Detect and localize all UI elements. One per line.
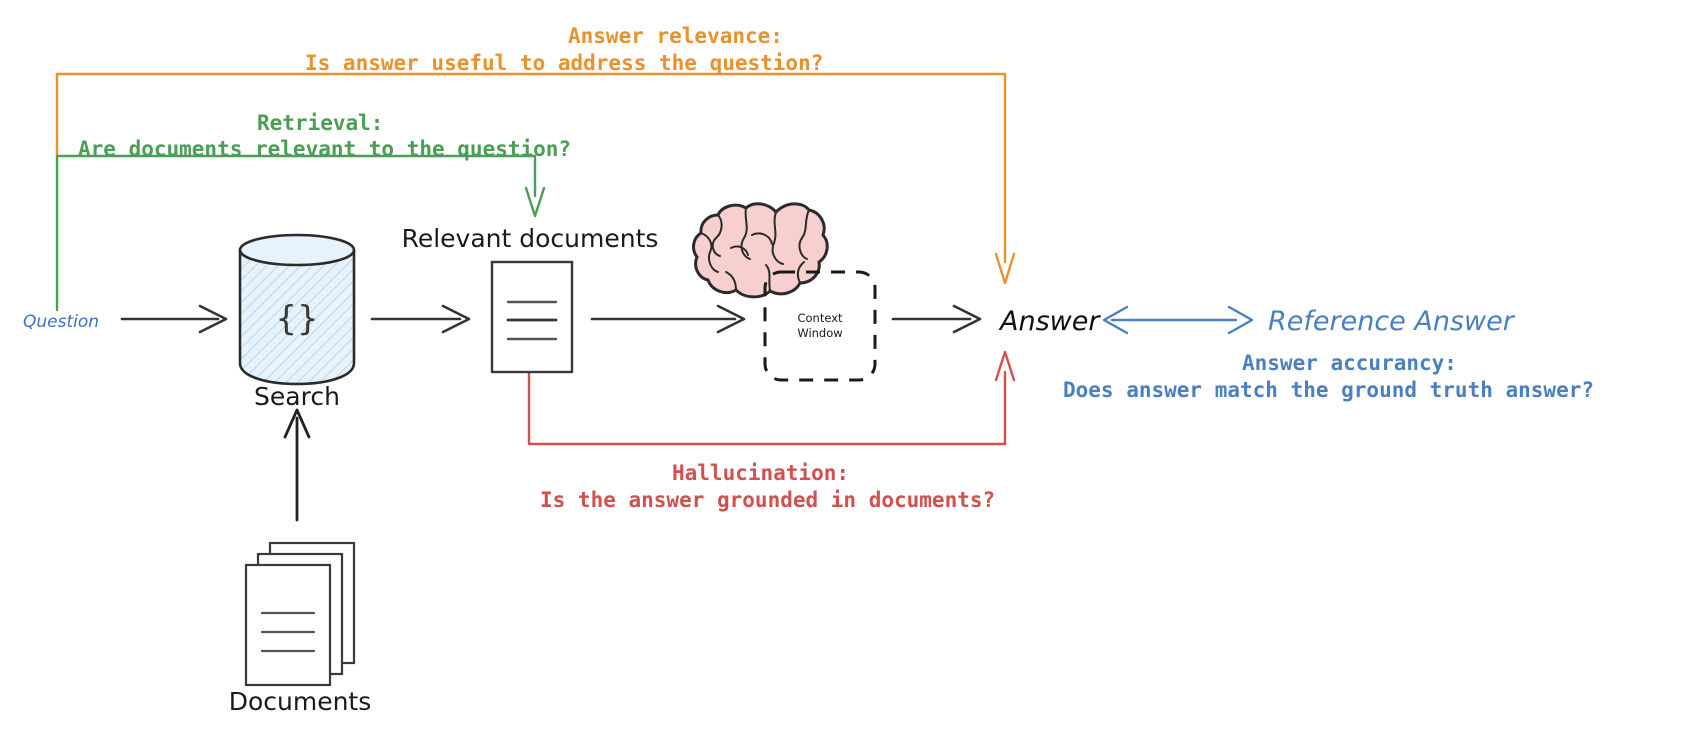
hallucination-title: Hallucination: — [672, 461, 849, 485]
documents-label: Documents — [229, 687, 372, 716]
answer-accuracy-question: Does answer match the ground truth answe… — [1063, 378, 1594, 402]
diagram-canvas: Answer relevance: Is answer useful to ad… — [0, 0, 1696, 731]
retrieval-question: Are documents relevant to the question? — [78, 137, 571, 161]
question-label: Question — [23, 312, 99, 332]
context-window-line2: Window — [797, 326, 842, 340]
brain-icon — [694, 204, 828, 297]
search-label: Search — [254, 382, 340, 411]
database-braces-glyph: {} — [275, 299, 318, 339]
document-icon — [492, 262, 572, 372]
documents-stack-icon — [246, 543, 354, 685]
reference-answer-label: Reference Answer — [1268, 306, 1516, 337]
context-window-line1: Context — [797, 311, 843, 325]
hallucination-question: Is the answer grounded in documents? — [540, 488, 995, 512]
answer-accuracy-title: Answer accurancy: — [1242, 351, 1457, 375]
retrieval-title: Retrieval: — [257, 111, 383, 135]
rag-evaluation-diagram: Answer relevance: Is answer useful to ad… — [0, 0, 1696, 731]
relevant-documents-label: Relevant documents — [402, 224, 659, 253]
answer-label: Answer — [998, 306, 1101, 337]
database-cylinder-icon: {} — [240, 235, 354, 384]
answer-relevance-title: Answer relevance: — [568, 24, 783, 48]
answer-relevance-question: Is answer useful to address the question… — [305, 51, 823, 75]
